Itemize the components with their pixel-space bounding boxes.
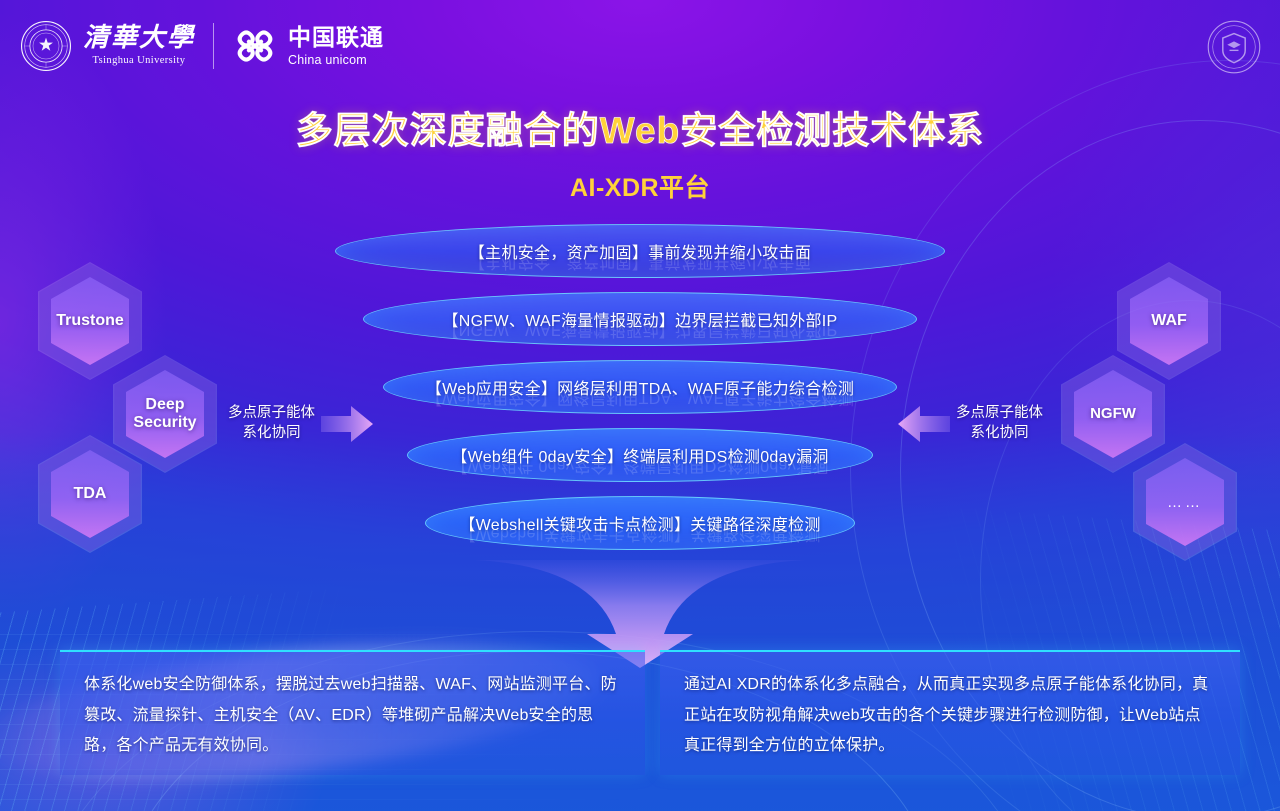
funnel-layer-4[interactable]: 【Web组件 0day安全】终端层利用DS检测0day漏洞 【Web组件 0da… [407,428,873,482]
shield-emblem-icon [1206,19,1262,75]
arrow-left-icon [898,404,950,444]
badge-label-line2: Security [133,414,196,432]
unicom-name-en: China unicom [288,54,384,67]
slide-header: 清華大學 Tsinghua University [0,0,1280,92]
arrow-left-label-line1: 多点原子能体 [228,404,315,424]
tsinghua-name-en: Tsinghua University [93,56,186,67]
badge-label: NGFW [1090,406,1136,423]
arrow-right-icon [321,404,373,444]
unicom-name-cn: 中国联通 [288,26,384,49]
arrow-right-label-line1: 多点原子能体 [956,404,1043,424]
china-unicom-logo: 中国联通 China unicom [232,24,384,68]
arrow-right-group: 多点原子能体 系化协同 [898,404,1043,444]
funnel-layer-2[interactable]: 【NGFW、WAF海量情报驱动】边界层拦截已知外部IP 【NGFW、WAF海量情… [363,292,917,346]
summary-panel-right-text: 通过AI XDR的体系化多点融合，从而真正实现多点原子能体系化协同，真正站在攻防… [684,670,1216,762]
funnel-layer-label: 【Webshell关键攻击卡点检测】关键路径深度检测 [459,511,820,535]
tsinghua-name-cn: 清華大學 [83,25,195,51]
badge-label: Deep Security [133,396,196,432]
badge-more[interactable]: …… [1133,443,1237,561]
tsinghua-seal-icon [20,20,72,72]
badge-label: TDA [74,485,107,503]
funnel-layer-label: 【NGFW、WAF海量情报驱动】边界层拦截已知外部IP [442,307,837,331]
tsinghua-logo: 清華大學 Tsinghua University [20,20,195,72]
badge-label: …… [1167,494,1203,511]
badge-tda[interactable]: TDA [38,435,142,553]
unicom-wordmark: 中国联通 China unicom [288,26,384,67]
summary-panel-left-text: 体系化web安全防御体系，摆脱过去web扫描器、WAF、网站监测平台、防篡改、流… [84,670,621,762]
tsinghua-wordmark: 清華大學 Tsinghua University [83,25,195,67]
logo-lockup: 清華大學 Tsinghua University [20,20,384,72]
funnel-layer-label: 【主机安全，资产加固】事前发现并缩小攻击面 [469,239,811,263]
arrow-left-label: 多点原子能体 系化协同 [228,404,315,443]
slide-stage: 清華大學 Tsinghua University [0,0,1280,811]
arrow-left-label-line2: 系化协同 [228,424,315,444]
funnel-layer-label: 【Web组件 0day安全】终端层利用DS检测0day漏洞 [451,443,828,467]
china-unicom-knot-icon [232,24,278,68]
page-subtitle: AI-XDR平台 [0,168,1280,204]
badge-label: WAF [1151,312,1187,330]
badge-label-line1: Deep [133,396,196,414]
logo-divider [213,23,214,69]
funnel-layer-1[interactable]: 【主机安全，资产加固】事前发现并缩小攻击面 【主机安全，资产加固】事前发现并缩小… [335,224,945,278]
funnel-layer-label: 【Web应用安全】网络层利用TDA、WAF原子能力综合检测 [426,375,854,399]
badge-label: Trustone [56,312,124,330]
funnel-layer-3[interactable]: 【Web应用安全】网络层利用TDA、WAF原子能力综合检测 【Web应用安全】网… [383,360,897,414]
summary-panel-right: 通过AI XDR的体系化多点融合，从而真正实现多点原子能体系化协同，真正站在攻防… [660,650,1240,775]
page-title: 多层次深度融合的Web安全检测技术体系 [0,100,1280,154]
funnel-layer-5[interactable]: 【Webshell关键攻击卡点检测】关键路径深度检测 【Webshell关键攻击… [425,496,855,550]
arrow-right-label-line2: 系化协同 [956,424,1043,444]
arrow-right-label: 多点原子能体 系化协同 [956,404,1043,443]
summary-panel-left: 体系化web安全防御体系，摆脱过去web扫描器、WAF、网站监测平台、防篡改、流… [60,650,645,775]
arrow-left-group: 多点原子能体 系化协同 [228,404,373,444]
